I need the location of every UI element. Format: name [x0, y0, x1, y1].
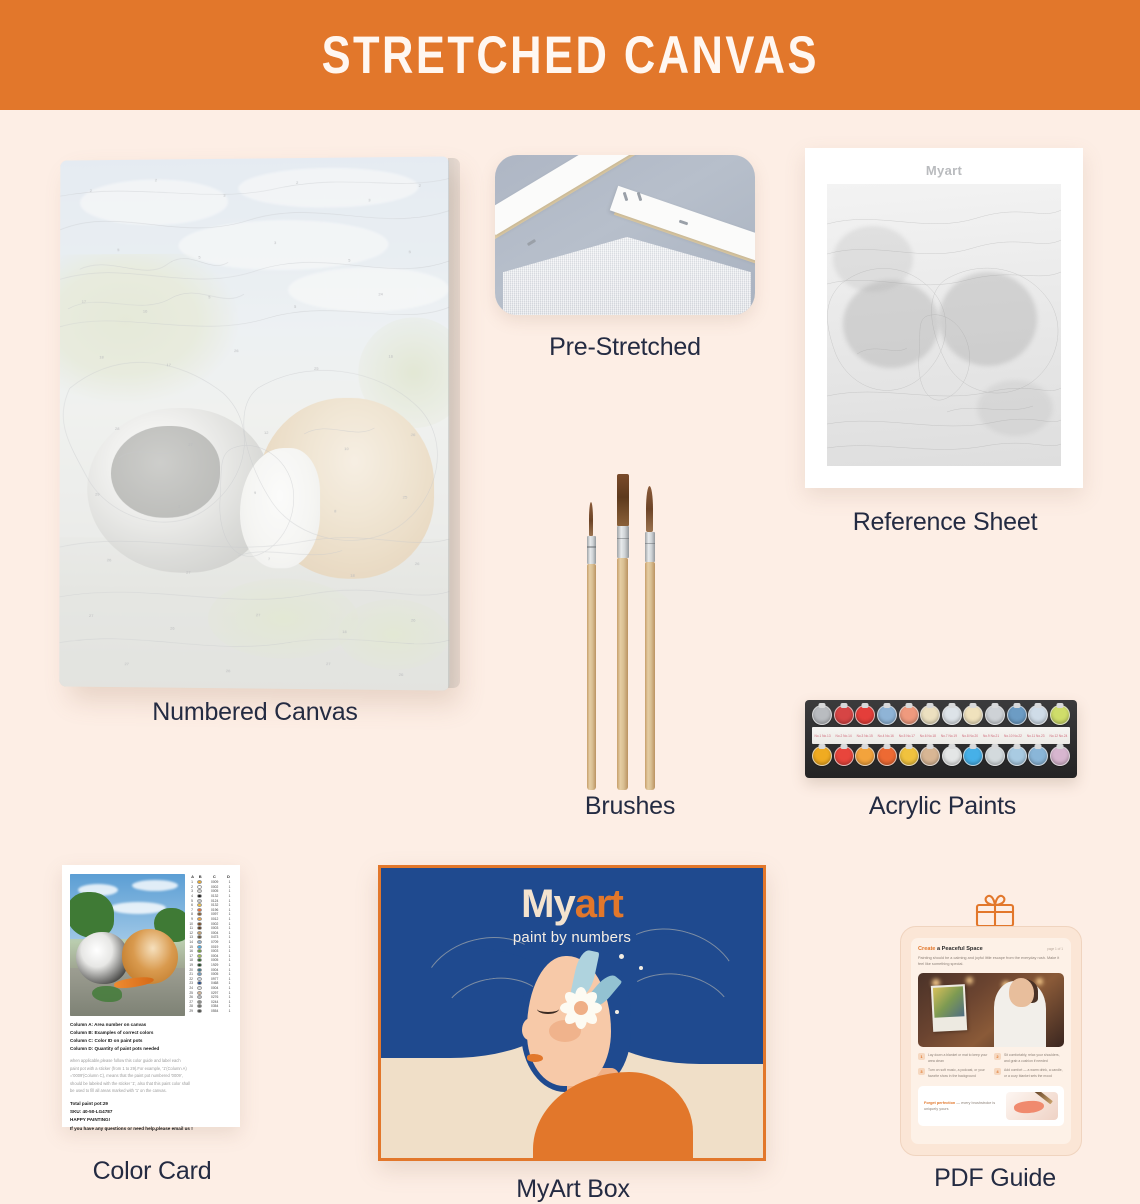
paint-pot [855, 746, 875, 766]
tip-text: Lay down a blanket or mat to keep your a… [928, 1053, 988, 1064]
photo-bush [70, 892, 114, 938]
hero-light [1036, 978, 1043, 985]
swatch-area-number: 29 [186, 1009, 193, 1013]
legend-line: Column A: Area number on canvas [70, 1021, 232, 1029]
swatch-color-id: 0002 [207, 885, 223, 889]
color-card-instructions: when applicable,please follow this color… [70, 1057, 232, 1095]
paint-id-label: No.3 No.15 [857, 734, 873, 738]
pdf-tip: 3Turn on soft music, a podcast, or your … [918, 1068, 988, 1079]
swatch-area-number: 11 [186, 926, 193, 930]
pdf-note-text: Forget perfection — every brushstroke is… [924, 1100, 1000, 1113]
product-contents-stage: 2 2 3 2 3 2 5 5 3 5 5 17 16 5 5 24 18 17… [0, 110, 1140, 1140]
brushes-caption: Brushes [500, 792, 760, 821]
swatch-color-id: 0276 [207, 995, 223, 999]
swatch-color-id: 0005 [207, 889, 223, 893]
paint-pot [877, 705, 897, 725]
paint-pot [812, 705, 832, 725]
pdf-page-number: page 1 of 1 [1047, 947, 1063, 951]
swatch-quantity: 1 [227, 954, 232, 958]
swatch-color-id: 0354 [207, 1004, 223, 1008]
swatch-area-number: 25 [186, 991, 193, 995]
tip-badge: 3 [918, 1068, 925, 1075]
face-lip [527, 1054, 543, 1062]
numbered-canvas-caption: Numbered Canvas [50, 698, 460, 727]
myart-wordmark: Myart [381, 882, 763, 927]
myart-tagline: paint by numbers [381, 929, 763, 946]
brush-bristle-tip [617, 474, 629, 526]
paint-pot [1050, 705, 1070, 725]
swatch-color [197, 945, 202, 949]
swatch-quantity: 1 [227, 977, 232, 981]
paint-id-label: No.11 No.23 [1027, 734, 1045, 738]
swatch-color-id: 0554 [207, 1009, 223, 1013]
paint-stroke [1013, 1100, 1044, 1115]
color-card-legend: Column A: Area number on canvasColumn B:… [70, 1021, 232, 1053]
paint-pot [1028, 705, 1048, 725]
reference-sheet-caption: Reference Sheet [800, 508, 1090, 537]
swatch-quantity: 1 [227, 880, 232, 884]
swatch-area-number: 5 [186, 899, 193, 903]
swatch-color-id: 0132 [207, 894, 223, 898]
pdf-tip: 2Sit comfortably, relax your shoulders, … [994, 1053, 1064, 1064]
paint-id-label: No.7 No.19 [941, 734, 957, 738]
swatch-area-number: 24 [186, 986, 193, 990]
gift-icon [972, 892, 1018, 928]
swatch-quantity: 1 [227, 889, 232, 893]
paint-pot [855, 705, 875, 725]
swatch-quantity: 1 [227, 945, 232, 949]
swatch-area-number: 6 [186, 903, 193, 907]
face-eye [537, 1004, 559, 1014]
photo-guinea-pig-left [76, 932, 128, 984]
swatch-area-number: 21 [186, 972, 193, 976]
swatch-color [197, 991, 202, 995]
paint-pot [1007, 746, 1027, 766]
pre-stretched-caption: Pre-Stretched [485, 333, 765, 362]
swatch-area-number: 17 [186, 954, 193, 958]
brush-medium-round [644, 485, 658, 790]
swatch-color-id: 0124 [207, 899, 223, 903]
instruction-line: paint pot with a sticker (from 1 to 29).… [70, 1065, 232, 1073]
color-card-item: A B C D 10009120002130005140132150124160… [62, 865, 242, 1135]
paint-pot [942, 705, 962, 725]
paint-pot [920, 746, 940, 766]
swatch-color-id: 0709 [207, 940, 223, 944]
swatch-row: 2905541 [186, 1009, 232, 1014]
paint-pot [1007, 705, 1027, 725]
color-card-image: A B C D 10009120002130005140132150124160… [62, 865, 240, 1127]
pdf-guide-note: Forget perfection — every brushstroke is… [918, 1086, 1064, 1126]
swatch-quantity: 1 [227, 1000, 232, 1004]
box-front-panel: Myart paint by numbers [381, 868, 763, 1158]
swatch-quantity: 1 [227, 935, 232, 939]
reference-sheet-artwork [827, 184, 1061, 466]
swatch-quantity: 1 [227, 912, 232, 916]
paint-pot [899, 705, 919, 725]
acrylic-paints-item: No.1 No.13No.2 No.14No.3 No.15No.4 No.16… [805, 700, 1080, 790]
paint-id-label: No.5 No.17 [899, 734, 915, 738]
paint-id-label: No.12 No.24 [1049, 734, 1067, 738]
decorative-dot [619, 954, 624, 959]
paint-row-bottom [809, 746, 1073, 766]
swatch-quantity: 1 [227, 885, 232, 889]
tip-badge: 1 [918, 1053, 925, 1060]
paint-pot [942, 746, 962, 766]
staple-icon [527, 239, 536, 246]
tip-text: Sit comfortably, relax your shoulders, a… [1004, 1053, 1064, 1064]
swatch-quantity: 1 [227, 903, 232, 907]
footer-line: HAPPY PAINTING! [70, 1116, 232, 1124]
swatch-area-number: 26 [186, 995, 193, 999]
pdf-note-thumbnail [1006, 1092, 1058, 1120]
swatch-color-id: 0132 [207, 903, 223, 907]
tip-badge: 4 [994, 1068, 1001, 1075]
paint-row-top [809, 705, 1073, 725]
page-title: STRETCHED CANVAS [321, 25, 818, 86]
paint-id-label: No.9 No.21 [983, 734, 999, 738]
decorative-dot [639, 966, 643, 970]
paint-pot [985, 746, 1005, 766]
pdf-guide-page: page 1 of 1 Create a Peaceful Space Pain… [911, 938, 1071, 1144]
swatch-color-id: 0012 [207, 917, 223, 921]
paint-id-label: No.8 No.20 [962, 734, 978, 738]
footer-line: If you have any questions or need help,p… [70, 1125, 232, 1133]
swatch-quantity: 1 [227, 958, 232, 962]
myart-box-caption: MyArt Box [378, 1175, 768, 1204]
myart-logo: Myart paint by numbers [381, 882, 763, 946]
swatch-color-id: 0005 [207, 972, 223, 976]
swatch-area-number: 3 [186, 889, 193, 893]
myart-box-image: Myart paint by numbers [378, 865, 766, 1161]
swatch-quantity: 1 [227, 931, 232, 935]
swatch-area-number: 4 [186, 894, 193, 898]
swatch-color-id: 0003 [207, 926, 223, 930]
legend-line: Column B: Examples of correct colors [70, 1029, 232, 1037]
paint-pot [1028, 746, 1048, 766]
numbered-canvas-item: 2 2 3 2 3 2 5 5 3 5 5 17 16 5 5 24 18 17… [50, 150, 460, 730]
paint-tray-label-strip: No.1 No.13No.2 No.14No.3 No.15No.4 No.16… [812, 727, 1070, 744]
paint-pot [877, 746, 897, 766]
photo-guinea-pig-right [122, 929, 178, 984]
brush-bristle-tip [589, 502, 593, 536]
swatch-color [197, 922, 202, 926]
swatch-color-id: 0097 [207, 912, 223, 916]
swatch-color-id: 0009 [207, 880, 223, 884]
swatch-area-number: 12 [186, 931, 193, 935]
color-card-photo [70, 874, 185, 1016]
tip-text: Add comfort — a warm drink, a candle, or… [1004, 1068, 1064, 1079]
swatch-color-id: 0297 [207, 991, 223, 995]
swatch-area-number: 27 [186, 1000, 193, 1004]
hero-easel [931, 984, 967, 1032]
canvas-wash-overlay [59, 156, 449, 690]
pdf-guide-page-frame: page 1 of 1 Create a Peaceful Space Pain… [900, 926, 1082, 1156]
numbered-canvas-image: 2 2 3 2 3 2 5 5 3 5 5 17 16 5 5 24 18 17… [59, 156, 449, 690]
photo-bush [92, 986, 122, 1002]
canvas-side-edge [448, 158, 460, 688]
paint-tray: No.1 No.13No.2 No.14No.3 No.15No.4 No.16… [805, 700, 1077, 778]
paint-pot [834, 746, 854, 766]
swatch-color [197, 1009, 202, 1013]
color-card-footer: Total paint pot:29SKU: 40-50-LG4787HAPPY… [70, 1100, 232, 1133]
swatch-color-id: 1929 [207, 963, 223, 967]
hero-light [966, 977, 973, 984]
instruction-line: be used to fill all areas marked with '1… [70, 1087, 232, 1095]
swatch-quantity: 1 [227, 1004, 232, 1008]
swatch-quantity: 1 [227, 995, 232, 999]
legend-line: Column D: Quantity of paint pots needed [70, 1045, 232, 1053]
color-card-caption: Color Card [27, 1157, 277, 1186]
swatch-area-number: 14 [186, 940, 193, 944]
tip-text: Turn on soft music, a podcast, or your f… [928, 1068, 988, 1079]
swatch-quantity: 1 [227, 899, 232, 903]
instruction-line: should be labeled with the sticker '1', … [70, 1080, 232, 1088]
instruction-line: ='0009'(Column C), means that the paint … [70, 1072, 232, 1080]
pdf-guide-caption: PDF Guide [870, 1164, 1120, 1193]
pdf-tip: 1Lay down a blanket or mat to keep your … [918, 1053, 988, 1064]
swatch-color-id: 0004 [207, 968, 223, 972]
swatch-color-id: 0002 [207, 922, 223, 926]
swatch-quantity: 1 [227, 922, 232, 926]
paint-pot [899, 746, 919, 766]
swatch-quantity: 1 [227, 926, 232, 930]
swatch-quantity: 1 [227, 940, 232, 944]
swatch-color-id: 0196 [207, 908, 223, 912]
swatch-area-number: 7 [186, 908, 193, 912]
swatch-quantity: 1 [227, 1009, 232, 1013]
swatch-area-number: 22 [186, 977, 193, 981]
swatch-color-id: 0244 [207, 1000, 223, 1004]
swatch-area-number: 20 [186, 968, 193, 972]
brush-flat [615, 470, 631, 790]
swatch-color-id: 0004 [207, 931, 223, 935]
swatch-quantity: 1 [227, 894, 232, 898]
pre-stretched-item: Pre-Stretched [495, 155, 760, 375]
reference-sheet-image: Myart [805, 148, 1083, 488]
acrylic-paints-caption: Acrylic Paints [795, 792, 1090, 821]
reference-sheet-item: Myart [805, 148, 1090, 478]
paint-pot [834, 705, 854, 725]
tip-badge: 2 [994, 1053, 1001, 1060]
reference-sheet-logo: Myart [805, 163, 1083, 178]
swatch-color-id: 0977 [207, 977, 223, 981]
paint-pot [963, 746, 983, 766]
swatch-quantity: 1 [227, 908, 232, 912]
decorative-dot [615, 1010, 619, 1014]
pdf-guide-intro: Painting should be a calming and joyful … [918, 955, 1064, 968]
swatch-quantity: 1 [227, 917, 232, 921]
photo-cloud [132, 880, 178, 891]
swatch-color-id: 0004 [207, 954, 223, 958]
page-header: STRETCHED CANVAS [0, 0, 1140, 110]
swatch-area-number: 19 [186, 963, 193, 967]
swatch-color-id: 0004 [207, 986, 223, 990]
swatch-quantity: 1 [227, 986, 232, 990]
myart-box-item: Myart paint by numbers MyArt Box [378, 865, 768, 1165]
pre-stretched-image [495, 155, 755, 315]
brushes-item: Brushes [560, 470, 700, 790]
color-swatch-table: A B C D 10009120002130005140132150124160… [186, 874, 232, 1013]
face-nose [522, 1018, 538, 1040]
brush-bristle-tip [646, 486, 653, 532]
paint-id-label: No.2 No.14 [836, 734, 852, 738]
swatch-color-id: 0019 [207, 945, 223, 949]
pdf-guide-hero-photo [918, 973, 1064, 1047]
footer-line: Total paint pot:29 [70, 1100, 232, 1108]
instruction-line: when applicable,please follow this color… [70, 1057, 232, 1065]
swatch-color [197, 899, 202, 903]
swatch-color-id: 0003 [207, 949, 223, 953]
swatch-color [197, 968, 202, 972]
paint-pot [963, 705, 983, 725]
pdf-guide-item: page 1 of 1 Create a Peaceful Space Pain… [900, 892, 1090, 1167]
swatch-area-number: 2 [186, 885, 193, 889]
swatch-area-number: 15 [186, 945, 193, 949]
swatch-area-number: 13 [186, 935, 193, 939]
swatch-quantity: 1 [227, 968, 232, 972]
swatch-area-number: 23 [186, 981, 193, 985]
paint-id-label: No.6 No.18 [920, 734, 936, 738]
paint-id-label: No.1 No.13 [814, 734, 830, 738]
legend-line: Column C: Color ID on paint pots [70, 1037, 232, 1045]
paint-id-label: No.4 No.16 [878, 734, 894, 738]
swatch-area-number: 16 [186, 949, 193, 953]
swatch-area-number: 28 [186, 1004, 193, 1008]
paint-pot [1050, 746, 1070, 766]
swatch-area-number: 9 [186, 917, 193, 921]
paint-pot [985, 705, 1005, 725]
pdf-guide-tips: 1Lay down a blanket or mat to keep your … [918, 1053, 1064, 1079]
hero-painting [933, 986, 965, 1018]
swatch-color-id: 0468 [207, 981, 223, 985]
swatch-area-number: 10 [186, 922, 193, 926]
paint-pot [812, 746, 832, 766]
swatch-quantity: 1 [227, 991, 232, 995]
swatch-color-id: 0005 [207, 958, 223, 962]
pdf-tip: 4Add comfort — a warm drink, a candle, o… [994, 1068, 1064, 1079]
swatch-quantity: 1 [227, 972, 232, 976]
flower-icon [559, 986, 603, 1030]
brush-thin-round [586, 500, 598, 790]
swatch-area-number: 8 [186, 912, 193, 916]
paint-id-label: No.10 No.22 [1004, 734, 1022, 738]
ref-outlines [827, 184, 1061, 466]
swatch-area-number: 18 [186, 958, 193, 962]
swatch-quantity: 1 [227, 981, 232, 985]
swatch-quantity: 1 [227, 949, 232, 953]
swatch-area-number: 1 [186, 880, 193, 884]
footer-line: SKU: 40-50-LG4787 [70, 1108, 232, 1116]
swatch-color-id: 0473 [207, 935, 223, 939]
swatch-quantity: 1 [227, 963, 232, 967]
pdf-guide-title: Create a Peaceful Space [918, 946, 1064, 952]
hero-figure-head [1009, 978, 1034, 1007]
paint-pot [920, 705, 940, 725]
